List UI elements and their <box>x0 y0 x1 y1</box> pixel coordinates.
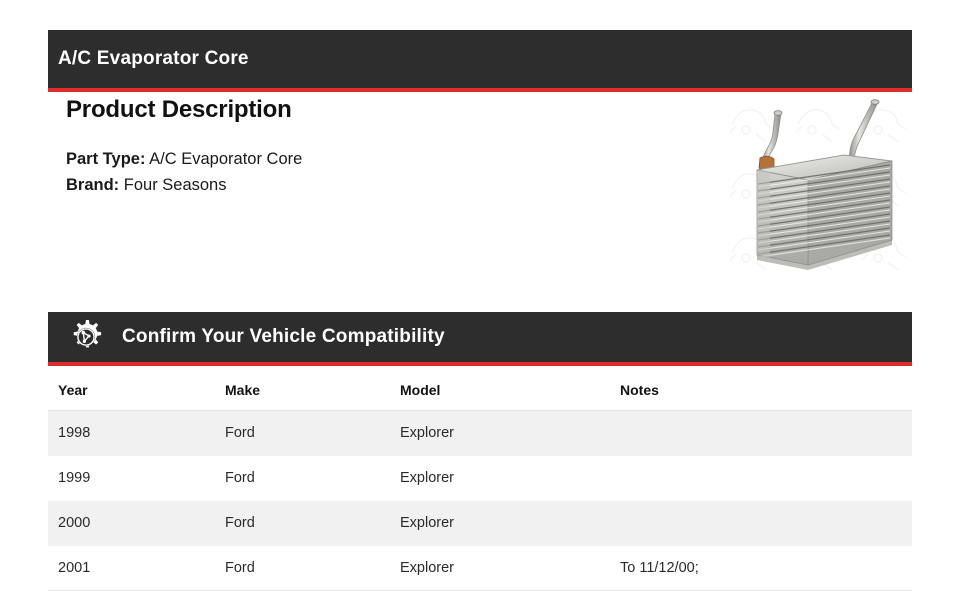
compatibility-title: Confirm Your Vehicle Compatibility <box>122 326 445 348</box>
table-row: 1998 Ford Explorer <box>48 411 912 456</box>
page-title: A/C Evaporator Core <box>58 48 249 70</box>
column-header-notes: Notes <box>610 370 912 411</box>
table-header-row: Year Make Model Notes <box>48 370 912 411</box>
spec-brand-value: Four Seasons <box>124 176 227 194</box>
vehicle-compatibility-table: Year Make Model Notes 1998 Ford Explorer… <box>48 370 912 591</box>
cell-notes <box>610 411 912 456</box>
spec-part-type-value: A/C Evaporator Core <box>149 150 302 168</box>
evaporator-core-photo-icon <box>722 90 918 282</box>
product-description-heading: Product Description <box>66 96 706 124</box>
table-header: Year Make Model Notes <box>48 370 912 411</box>
cell-model: Explorer <box>390 411 610 456</box>
cell-notes <box>610 501 912 546</box>
cell-make: Ford <box>215 546 390 591</box>
cell-year: 1999 <box>48 456 215 501</box>
column-header-make: Make <box>215 370 390 411</box>
cell-year: 1998 <box>48 411 215 456</box>
cell-make: Ford <box>215 501 390 546</box>
spec-part-type-label: Part Type: <box>66 150 145 168</box>
column-header-model: Model <box>390 370 610 411</box>
spec-part-type: Part Type: A/C Evaporator Core <box>66 146 706 172</box>
cell-notes: To 11/12/00; <box>610 546 912 591</box>
cell-model: Explorer <box>390 546 610 591</box>
cell-year: 2000 <box>48 501 215 546</box>
product-image <box>722 90 918 282</box>
cell-notes <box>610 456 912 501</box>
spec-brand: Brand: Four Seasons <box>66 172 706 198</box>
compatibility-header-bar: Confirm Your Vehicle Compatibility <box>48 312 912 366</box>
table-row: 2001 Ford Explorer To 11/12/00; <box>48 546 912 591</box>
page-root: A/C Evaporator Core Product Description … <box>0 0 960 606</box>
table-row: 1999 Ford Explorer <box>48 456 912 501</box>
gear-icon <box>66 317 106 357</box>
cell-make: Ford <box>215 411 390 456</box>
cell-year: 2001 <box>48 546 215 591</box>
table-body: 1998 Ford Explorer 1999 Ford Explorer 20… <box>48 411 912 591</box>
product-title-bar: A/C Evaporator Core <box>48 30 912 92</box>
cell-model: Explorer <box>390 456 610 501</box>
table-row: 2000 Ford Explorer <box>48 501 912 546</box>
spec-brand-label: Brand: <box>66 176 119 194</box>
product-description-section: Product Description Part Type: A/C Evapo… <box>66 96 706 198</box>
cell-model: Explorer <box>390 501 610 546</box>
column-header-year: Year <box>48 370 215 411</box>
cell-make: Ford <box>215 456 390 501</box>
